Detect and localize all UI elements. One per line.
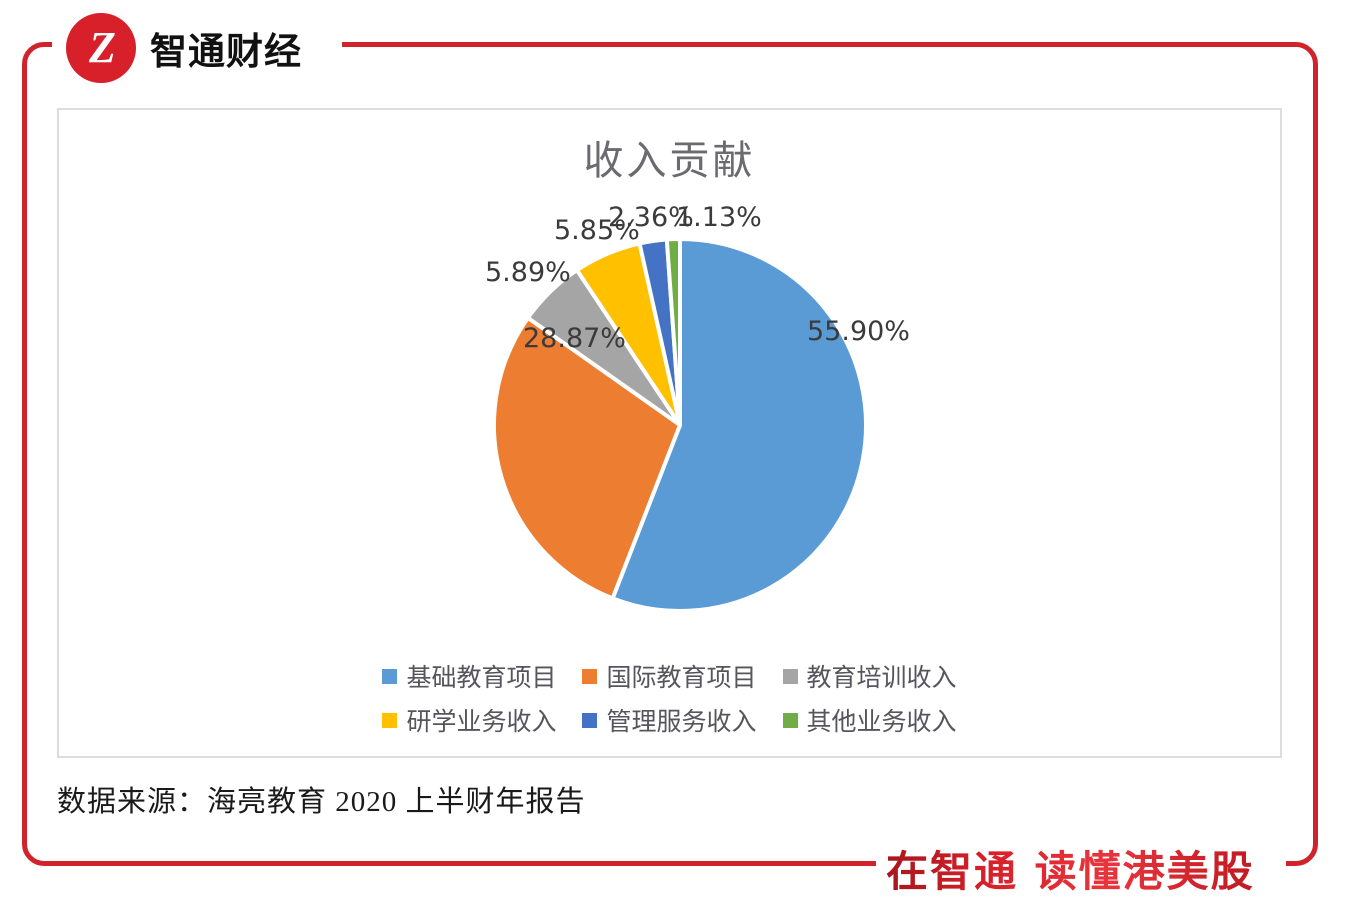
pie-slice-group (494, 239, 866, 611)
zhitong-circle-logo-icon: Z (66, 13, 136, 83)
legend-swatch-icon (582, 713, 597, 728)
legend-swatch-icon (582, 669, 597, 684)
legend-label: 基础教育项目 (406, 658, 556, 694)
legend-item-basic-education[interactable]: 基础教育项目 (382, 658, 556, 694)
pie-chart-svg (490, 235, 870, 615)
legend-item-other-business[interactable]: 其他业务收入 (783, 702, 957, 738)
slice-label-other-business: 1.13% (676, 202, 762, 233)
brand-name: 智通财经 (150, 21, 302, 75)
chart-panel: 收入贡献 55.90% 28.87% 5.89% 5.85% 2.36% 1.1… (57, 108, 1282, 758)
legend-swatch-icon (783, 713, 798, 728)
slice-label-international-education: 28.87% (523, 323, 626, 354)
slice-label-education-training: 5.89% (485, 257, 571, 288)
pie-chart (490, 235, 870, 615)
legend-label: 管理服务收入 (606, 702, 756, 738)
chart-title: 收入贡献 (59, 128, 1280, 186)
slice-label-basic-education: 55.90% (807, 316, 910, 347)
legend-swatch-icon (783, 669, 798, 684)
chart-legend: 基础教育项目 国际教育项目 教育培训收入 研学业务收入 管理服务收入 (59, 658, 1280, 738)
data-source-note: 数据来源：海亮教育 2020 上半财年报告 (57, 778, 586, 820)
legend-item-management-service[interactable]: 管理服务收入 (582, 702, 756, 738)
legend-row-2: 研学业务收入 管理服务收入 其他业务收入 (382, 702, 956, 738)
brand-slogan: 在智通 读懂港美股 (886, 838, 1255, 899)
legend-label: 研学业务收入 (406, 702, 556, 738)
legend-label: 国际教育项目 (606, 658, 756, 694)
legend-swatch-icon (382, 669, 397, 684)
logo-monogram: Z (66, 13, 136, 83)
legend-swatch-icon (382, 713, 397, 728)
legend-label: 教育培训收入 (807, 658, 957, 694)
legend-row-1: 基础教育项目 国际教育项目 教育培训收入 (382, 658, 956, 694)
brand-logo-lockup: Z 智通财经 (66, 12, 302, 84)
legend-item-education-training[interactable]: 教育培训收入 (783, 658, 957, 694)
legend-item-international-education[interactable]: 国际教育项目 (582, 658, 756, 694)
legend-label: 其他业务收入 (807, 702, 957, 738)
legend-item-study-tour[interactable]: 研学业务收入 (382, 702, 556, 738)
